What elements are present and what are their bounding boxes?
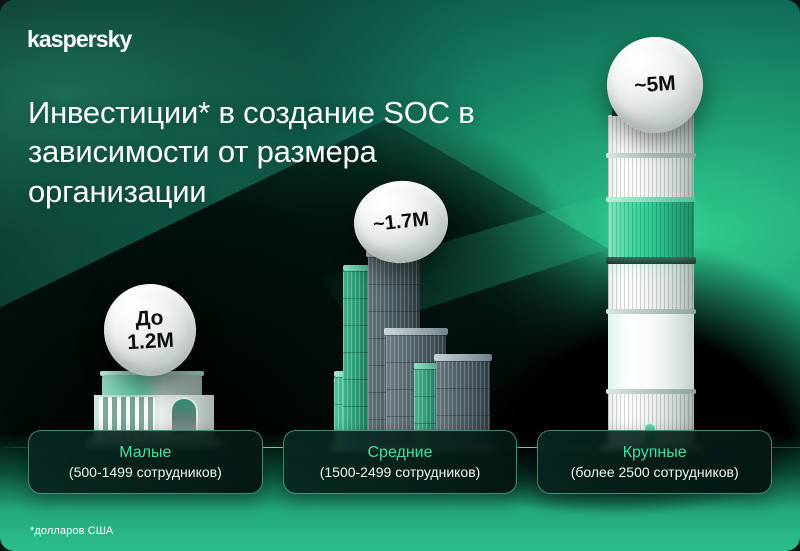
tower-segment-lines — [608, 157, 694, 197]
category-card-large-subtitle: (более 2500 сотрудников) — [571, 463, 739, 482]
value-badge-small-line2: 1.2M — [127, 329, 175, 355]
infographic-canvas: kaspersky Инвестиции* в создание SOC в з… — [0, 0, 800, 551]
category-card-medium-title: Средние — [368, 443, 433, 463]
tower-divider-2 — [606, 309, 696, 314]
category-card-large-title: Крупные — [623, 443, 687, 463]
small-building-upper-floor — [102, 375, 202, 395]
mid-building-4-roof — [384, 328, 448, 335]
value-badge-mid-label: ~1.7M — [372, 208, 430, 237]
category-card-small[interactable]: Малые (500-1499 сотрудников) — [28, 430, 263, 494]
value-badge-large-label: ~5M — [633, 72, 676, 99]
category-card-medium[interactable]: Средние (1500-2499 сотрудников) — [283, 430, 518, 494]
category-card-small-title: Малые — [119, 443, 171, 463]
tower-segment-green — [608, 201, 694, 257]
tower-segment-4 — [608, 157, 694, 197]
tower-segment-lines — [608, 201, 694, 257]
tower-segment-lines — [608, 263, 694, 309]
category-card-medium-subtitle: (1500-2499 сотрудников) — [320, 463, 481, 482]
tower-segment-3 — [608, 263, 694, 309]
value-badge-small-line1: До — [125, 306, 173, 332]
category-cards: Малые (500-1499 сотрудников) Средние (15… — [28, 430, 772, 494]
tower-divider-1 — [606, 389, 696, 394]
tower-segment-2 — [608, 313, 694, 389]
category-card-large[interactable]: Крупные (более 2500 сотрудников) — [537, 430, 772, 494]
category-card-small-subtitle: (500-1499 сотрудников) — [69, 463, 222, 482]
tower-divider-5 — [606, 153, 696, 158]
tower-divider-4 — [606, 197, 696, 202]
tower-divider-3 — [606, 257, 696, 264]
mid-building-6-roof — [434, 354, 492, 361]
footnote: *долларов США — [30, 525, 113, 537]
